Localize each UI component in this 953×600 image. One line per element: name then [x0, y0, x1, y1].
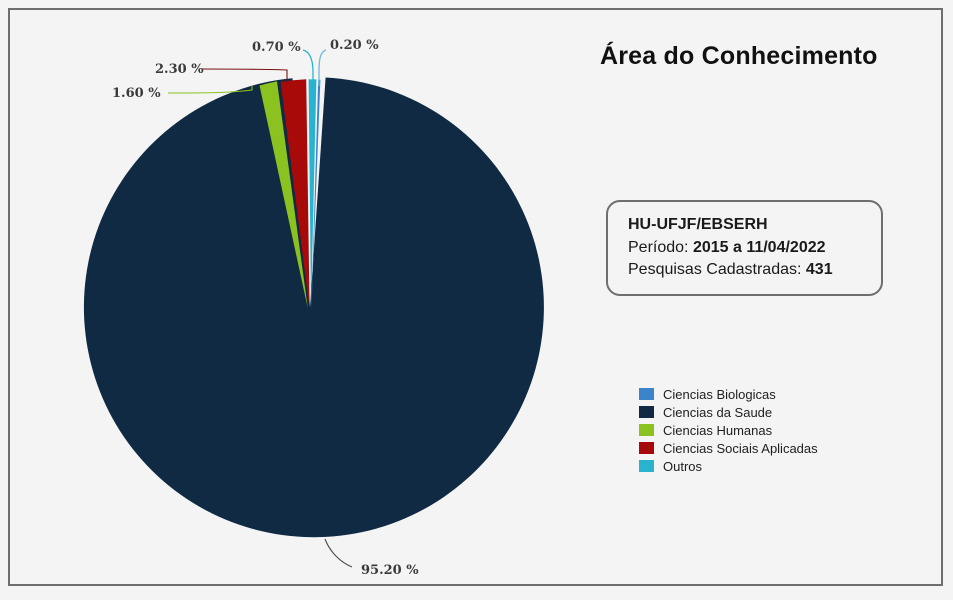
legend-label: Ciencias Biologicas — [663, 387, 776, 402]
info-period-label: Período: — [628, 239, 688, 256]
legend-swatch-icon — [639, 388, 654, 400]
legend-label: Outros — [663, 459, 702, 474]
legend-item-outros[interactable]: Outros — [639, 457, 818, 475]
legend-item-ciencias-da-saude[interactable]: Ciencias da Saude — [639, 403, 818, 421]
chart-canvas: 1.60 % 2.30 % 0.70 % 0.20 % 95.20 % Área… — [0, 0, 953, 600]
legend-swatch-icon — [639, 460, 654, 472]
legend-label: Ciencias Humanas — [663, 423, 772, 438]
info-count: Pesquisas Cadastradas: 431 — [628, 259, 863, 282]
pct-label-ciencias-da-saude: 95.20 % — [361, 563, 419, 578]
legend-swatch-icon — [639, 424, 654, 436]
legend: Ciencias Biologicas Ciencias da Saude Ci… — [639, 385, 818, 475]
legend-item-ciencias-sociais-aplicadas[interactable]: Ciencias Sociais Aplicadas — [639, 439, 818, 457]
chart-title: Área do Conhecimento — [600, 42, 878, 71]
legend-item-ciencias-biologicas[interactable]: Ciencias Biologicas — [639, 385, 818, 403]
info-period-value: 2015 a 11/04/2022 — [693, 239, 826, 256]
info-count-label: Pesquisas Cadastradas: — [628, 261, 801, 278]
legend-swatch-icon — [639, 442, 654, 454]
legend-item-ciencias-humanas[interactable]: Ciencias Humanas — [639, 421, 818, 439]
legend-swatch-icon — [639, 406, 654, 418]
pct-label-ciencias-sociais-aplicadas: 2.30 % — [155, 62, 204, 77]
legend-label: Ciencias Sociais Aplicadas — [663, 441, 818, 456]
legend-label: Ciencias da Saude — [663, 405, 772, 420]
info-org: HU-UFJF/EBSERH — [628, 214, 863, 237]
info-box: HU-UFJF/EBSERH Período: 2015 a 11/04/202… — [606, 200, 883, 296]
pct-label-outros: 0.70 % — [252, 40, 301, 55]
info-period: Período: 2015 a 11/04/2022 — [628, 237, 863, 260]
info-count-value: 431 — [806, 261, 833, 278]
leader-line-ciencias-da-saude — [325, 539, 352, 567]
pct-label-ciencias-humanas: 1.60 % — [112, 86, 161, 101]
pct-label-ciencias-biologicas: 0.20 % — [330, 38, 379, 53]
